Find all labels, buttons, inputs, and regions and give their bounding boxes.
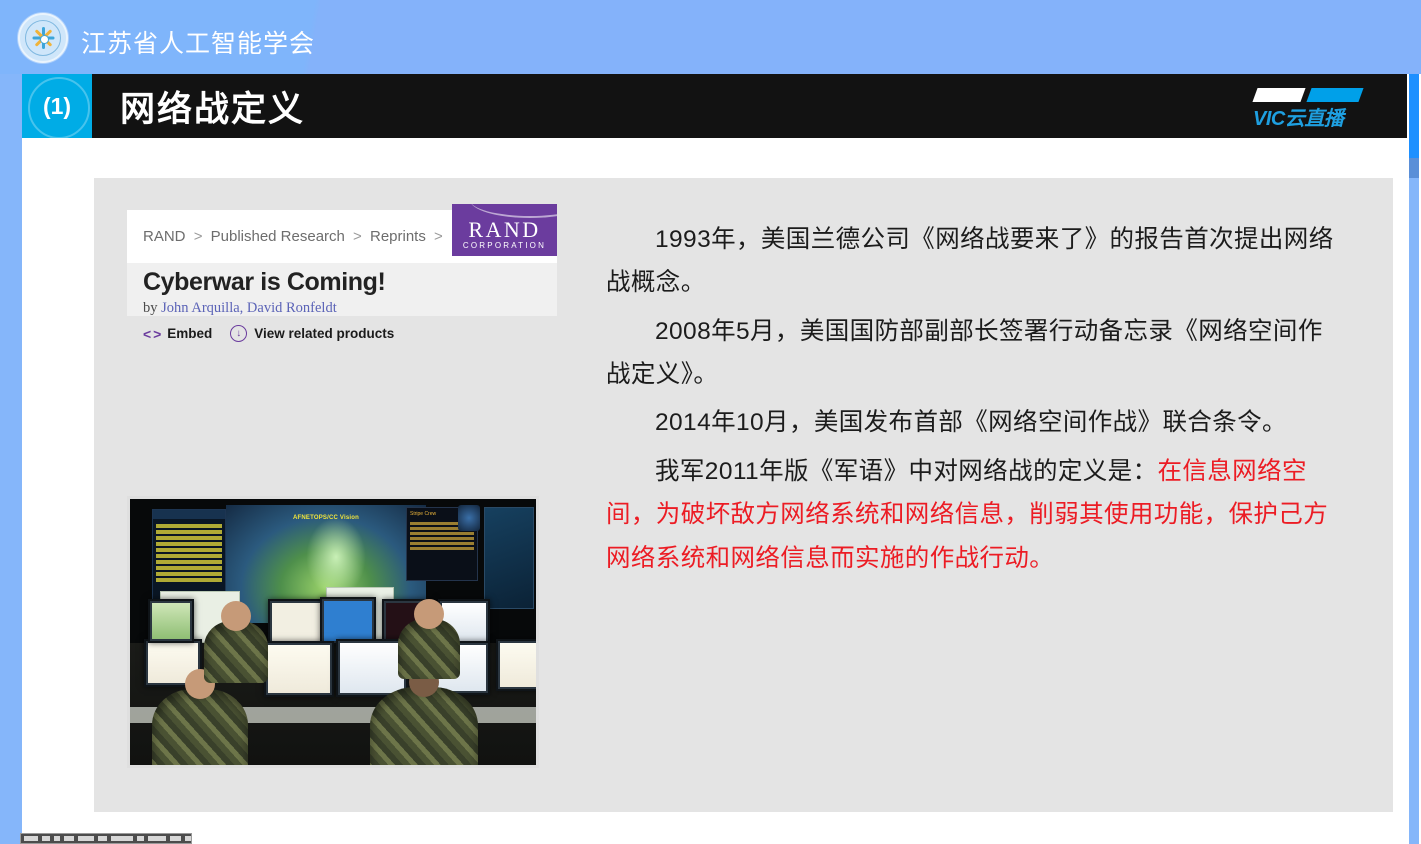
photo-person-back-right: [398, 619, 460, 679]
slide-title: 网络战定义: [120, 81, 305, 132]
cyber-operations-center-photo: AFNETOPS/CC Vision Stripe Crew: [127, 496, 539, 768]
slide-number-badge: (1): [22, 74, 92, 138]
scrollbar-thumb-secondary[interactable]: [1409, 158, 1419, 178]
photo-monitor-10: [148, 599, 194, 643]
emblem-hub: [40, 35, 49, 44]
vertical-scrollbar[interactable]: [1407, 74, 1421, 844]
photo-monitor-6: [264, 641, 334, 697]
paragraph-4-definition: 我军2011年版《军语》中对网络战的定义是：在信息网络空间，为破坏敌方网络系统和…: [606, 450, 1346, 580]
breadcrumb: RAND > Published Research > Reprints >: [143, 228, 447, 245]
rand-logo-swoop: [470, 204, 557, 218]
slide-body-text: 1993年，美国兰德公司《网络战要来了》的报告首次提出网络战概念。 2008年5…: [606, 218, 1346, 585]
watermark-bar-blue: [1306, 88, 1363, 102]
breadcrumb-item-published-research[interactable]: Published Research: [211, 228, 345, 245]
slide-canvas: (1) 网络战定义 VIC云直播 RAND > Published Resear…: [22, 74, 1407, 844]
site-org-title: 江苏省人工智能学会: [81, 24, 315, 60]
photo-person-front-right: [370, 687, 478, 768]
publication-authors: by John Arquilla, David Ronfeldt: [143, 300, 557, 317]
breadcrumb-sep-2: >: [353, 228, 362, 245]
bottom-toolbar-fragment[interactable]: [20, 833, 192, 844]
vic-live-watermark: VIC云直播: [1253, 88, 1371, 128]
rand-logo-subtitle: CORPORATION: [452, 241, 557, 250]
photo-monitor-3: [320, 597, 376, 645]
breadcrumb-sep-1: >: [194, 228, 203, 245]
breadcrumb-item-rand[interactable]: RAND: [143, 228, 186, 245]
watermark-bar-white: [1252, 88, 1305, 102]
code-brackets-icon: < >: [143, 326, 160, 342]
panel-header: [153, 510, 225, 519]
view-related-label: View related products: [254, 326, 394, 341]
rand-card-topbar: RAND > Published Research > Reprints > R…: [127, 210, 557, 263]
photo-world-map-display: [484, 507, 534, 609]
photo-person-back-left: [204, 621, 268, 683]
rand-logo-name: RAND: [452, 217, 557, 243]
definition-lead: 我军2011年版《军语》中对网络战的定义是：: [655, 458, 1157, 485]
site-header: 江苏省人工智能学会: [0, 0, 1421, 74]
photo-monitor-9: [496, 639, 539, 691]
slide-number: (1): [43, 93, 71, 120]
embed-link[interactable]: < > Embed: [143, 326, 212, 342]
watermark-text: VIC云直播: [1253, 102, 1371, 131]
scrollbar-thumb[interactable]: [1409, 74, 1419, 158]
by-label: by: [143, 300, 158, 316]
photo-person-front-left: [152, 689, 248, 768]
scrollbar-track[interactable]: [1409, 74, 1419, 844]
photo-monitor-2: [268, 599, 326, 645]
screen-glow: [306, 517, 366, 597]
panel-rows: [153, 519, 225, 587]
author-links[interactable]: John Arquilla, David Ronfeldt: [161, 300, 337, 316]
slide-title-bar: (1) 网络战定义 VIC云直播: [22, 74, 1407, 138]
view-related-products-link[interactable]: ↓ View related products: [230, 325, 394, 342]
rand-card-body: Cyberwar is Coming! by John Arquilla, Da…: [127, 263, 557, 342]
content-panel: RAND > Published Research > Reprints > R…: [94, 178, 1393, 812]
embed-label: Embed: [167, 326, 212, 341]
breadcrumb-item-reprints[interactable]: Reprints: [370, 228, 426, 245]
paragraph-3: 2014年10月，美国发布首部《网络空间作战》联合条令。: [606, 401, 1346, 444]
paragraph-1: 1993年，美国兰德公司《网络战要来了》的报告首次提出网络战概念。: [606, 218, 1346, 305]
breadcrumb-sep-3: >: [434, 228, 443, 245]
publication-title: Cyberwar is Coming!: [143, 269, 557, 295]
rand-publication-card[interactable]: RAND > Published Research > Reprints > R…: [127, 210, 557, 316]
rand-corporation-logo: RAND CORPORATION: [452, 204, 557, 256]
screen-caption: AFNETOPS/CC Vision: [226, 515, 426, 521]
paragraph-2: 2008年5月，美国国防部副部长签署行动备忘录《网络空间作战定义》。: [606, 310, 1346, 397]
photo-unit-crest: [458, 505, 480, 531]
jsai-emblem-icon: [18, 13, 68, 63]
left-edge-band: [0, 74, 22, 844]
publication-actions: < > Embed ↓ View related products: [143, 325, 557, 342]
download-circle-icon: ↓: [230, 325, 247, 342]
